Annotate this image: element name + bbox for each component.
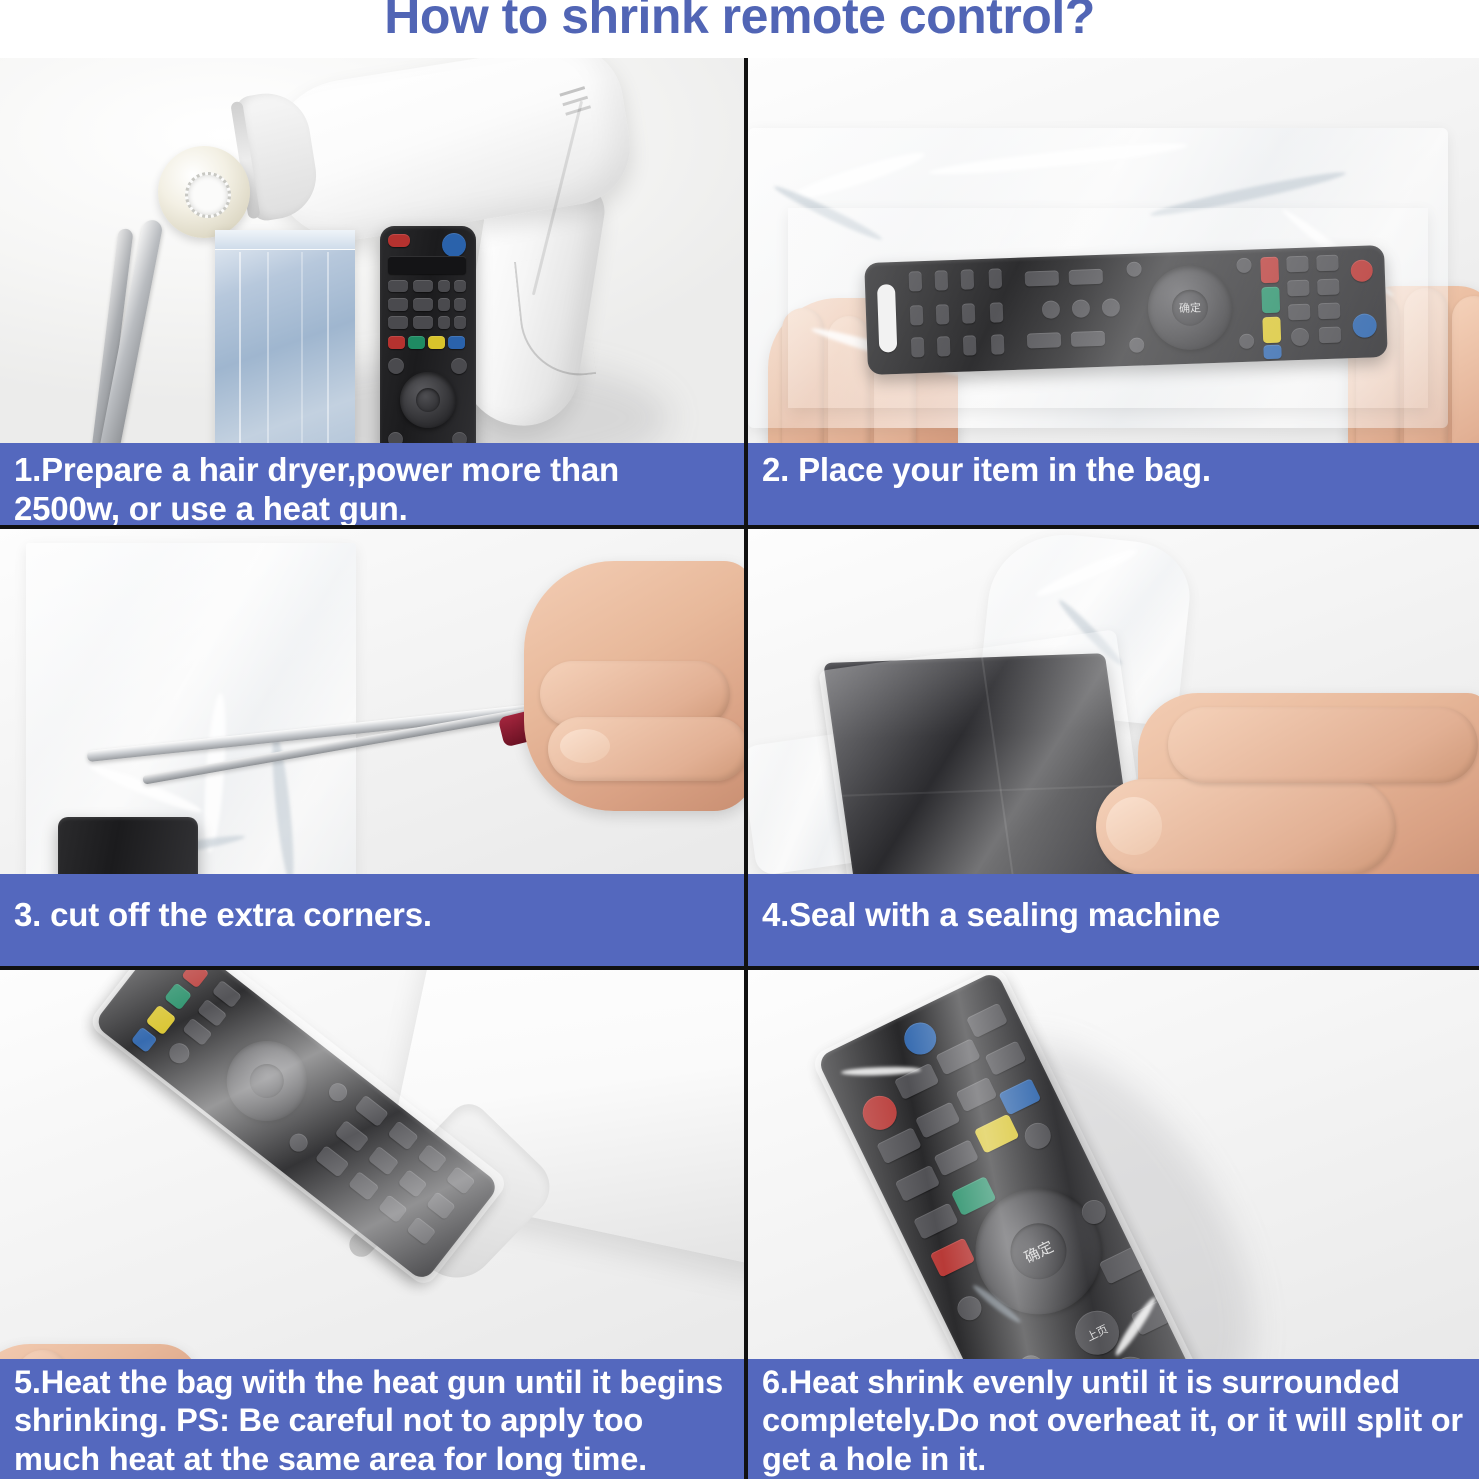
step-panel-6: 确定 上页 下页 6.Heat sh [748,970,1479,1479]
step-photo-5 [0,970,744,1359]
remote-color-key-green [408,336,425,349]
remote-color-key-blue [448,336,465,349]
step-photo-1 [0,58,744,443]
step-caption-1: 1.Prepare a hair dryer,power more than 2… [0,443,744,525]
step-photo-4 [748,529,1479,874]
remote-ok-button [416,388,440,412]
remote-color-key-red [388,336,405,349]
step-caption-3: 3. cut off the extra corners. [0,874,744,966]
step-caption-4: 4.Seal with a sealing machine [748,874,1479,966]
remote-dpad [400,372,456,428]
bag-film-highlight [788,208,1428,408]
remote-control [58,817,198,874]
page-title-text: How to shrink remote control? [384,0,1095,40]
remote-control [380,226,476,443]
step-caption-5: 5.Heat the bag with the heat gun until i… [0,1359,744,1479]
page-title: How to shrink remote control? [0,0,1479,58]
step-photo-3 [0,529,744,874]
step-panel-1: 1.Prepare a hair dryer,power more than 2… [0,58,744,525]
steps-grid: 1.Prepare a hair dryer,power more than 2… [0,58,1479,1479]
shrink-wrap-instructions-infographic: How to shrink remote control? [0,0,1479,1479]
shrink-bag [215,230,355,443]
tape-roll [158,146,250,238]
step-panel-5: 5.Heat the bag with the heat gun until i… [0,970,744,1479]
hair-dryer-switch-icon [559,86,585,96]
step-panel-4: 4.Seal with a sealing machine [748,529,1479,966]
step-photo-2: 确定 [748,58,1479,443]
step-caption-2: 2. Place your item in the bag. [748,443,1479,525]
step-panel-2: 确定 [748,58,1479,525]
step-photo-6: 确定 上页 下页 [748,970,1479,1359]
remote-color-key-yellow [428,336,445,349]
shrink-bag-fold [215,230,355,250]
step-panel-3: 3. cut off the extra corners. [0,529,744,966]
step-caption-6: 6.Heat shrink evenly until it is surroun… [748,1359,1479,1479]
